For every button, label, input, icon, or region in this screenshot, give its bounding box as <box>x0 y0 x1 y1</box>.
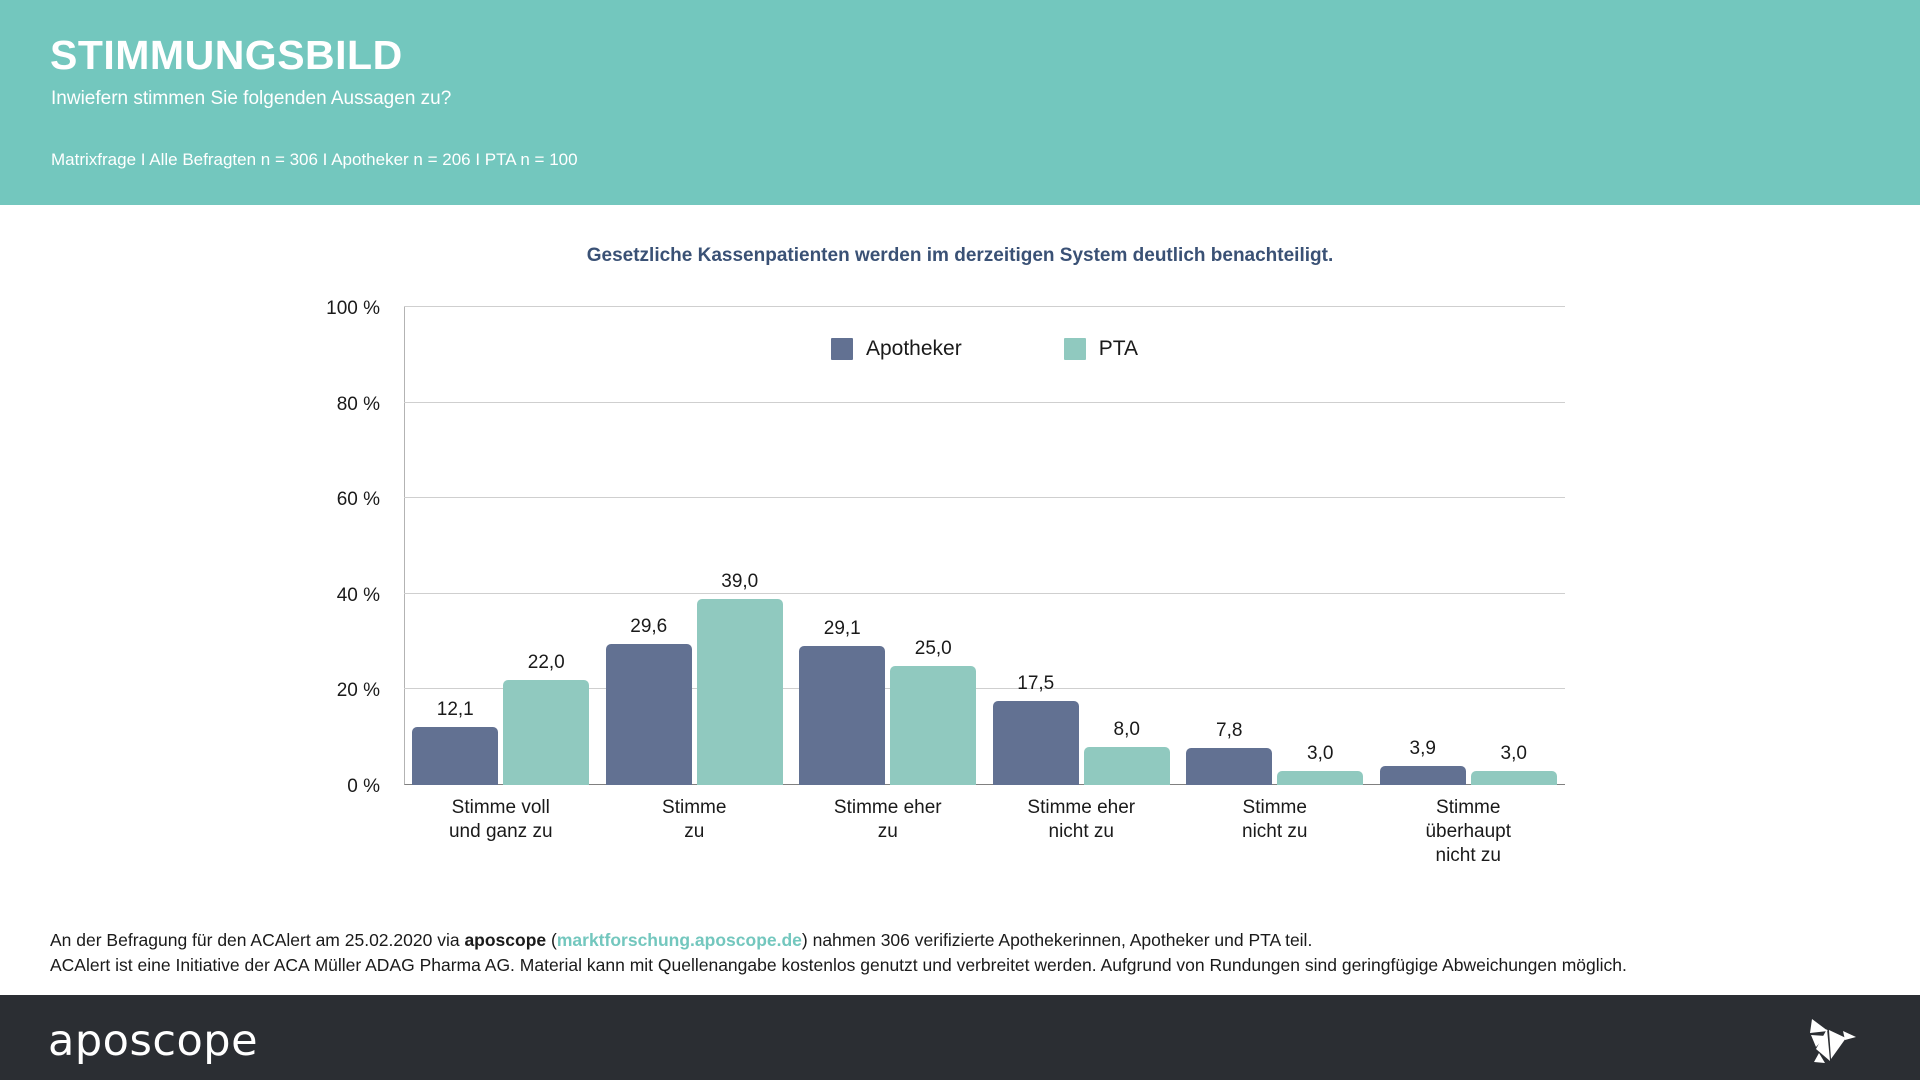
slide-root: STIMMUNGSBILD Inwiefern stimmen Sie folg… <box>0 0 1920 1080</box>
bar-pta[interactable] <box>503 680 589 785</box>
x-axis-category-label: Stimme eher zu <box>791 796 985 867</box>
origami-bird-icon <box>1798 1009 1860 1067</box>
bar-apotheker[interactable] <box>1186 748 1272 785</box>
bar-value-label: 12,1 <box>412 699 498 721</box>
bar-group: 7,83,0 <box>1178 307 1372 785</box>
footnote: An der Befragung für den ACAlert am 25.0… <box>50 928 1850 979</box>
x-axis-categories: Stimme voll und ganz zuStimme zuStimme e… <box>404 796 1565 867</box>
footnote-line-2: ACAlert ist eine Initiative der ACA Müll… <box>50 953 1850 978</box>
bar-slot: 17,5 <box>993 307 1079 785</box>
footnote-link[interactable]: marktforschung.aposcope.de <box>557 930 802 950</box>
page-title: STIMMUNGSBILD <box>50 35 403 76</box>
x-axis-category-label: Stimme eher nicht zu <box>985 796 1179 867</box>
bar-slot: 29,6 <box>606 307 692 785</box>
bar-apotheker[interactable] <box>1380 766 1466 785</box>
bar-value-label: 7,8 <box>1186 720 1272 742</box>
bar-pta[interactable] <box>890 666 976 786</box>
chart-title: Gesetzliche Kassenpatienten werden im de… <box>0 245 1920 267</box>
x-axis-category-label: Stimme nicht zu <box>1178 796 1372 867</box>
bar-group: 29,639,0 <box>598 307 792 785</box>
bar-apotheker[interactable] <box>799 646 885 785</box>
brand-wordmark: aposcope <box>48 1016 258 1066</box>
footnote-line-1: An der Befragung für den ACAlert am 25.0… <box>50 928 1850 953</box>
bar-value-label: 8,0 <box>1084 719 1170 741</box>
bar-value-label: 25,0 <box>890 638 976 660</box>
footnote-text-b: ( <box>546 930 557 950</box>
y-tick-label: 80 % <box>337 394 380 416</box>
bar-slot: 22,0 <box>503 307 589 785</box>
bar-group: 12,122,0 <box>404 307 598 785</box>
bar-value-label: 3,9 <box>1380 738 1466 760</box>
bar-value-label: 39,0 <box>697 571 783 593</box>
bar-pta[interactable] <box>1471 771 1557 785</box>
y-tick-label: 20 % <box>337 680 380 702</box>
bar-value-label: 29,1 <box>799 618 885 640</box>
bar-slot: 7,8 <box>1186 307 1272 785</box>
bar-pta[interactable] <box>697 599 783 785</box>
footnote-brand: aposcope <box>464 930 546 950</box>
bar-slot: 3,0 <box>1471 307 1557 785</box>
footer-bar: aposcope <box>0 995 1920 1080</box>
footnote-text-a: An der Befragung für den ACAlert am 25.0… <box>50 930 464 950</box>
x-axis-category-label: Stimme überhaupt nicht zu <box>1372 796 1566 867</box>
y-tick-label: 100 % <box>326 298 380 320</box>
bar-apotheker[interactable] <box>606 644 692 785</box>
bar-group: 17,58,0 <box>985 307 1179 785</box>
bar-pta[interactable] <box>1277 771 1363 785</box>
bar-slot: 29,1 <box>799 307 885 785</box>
bar-slot: 12,1 <box>412 307 498 785</box>
bar-group: 29,125,0 <box>791 307 985 785</box>
bar-apotheker[interactable] <box>993 701 1079 785</box>
bar-value-label: 22,0 <box>503 652 589 674</box>
bar-slot: 3,0 <box>1277 307 1363 785</box>
bar-value-label: 29,6 <box>606 616 692 638</box>
bar-value-label: 3,0 <box>1277 743 1363 765</box>
bar-pta[interactable] <box>1084 747 1170 785</box>
footnote-text-c: ) nahmen 306 verifizierte Apothekerinnen… <box>802 930 1312 950</box>
bar-group: 3,93,0 <box>1372 307 1566 785</box>
y-tick-label: 40 % <box>337 585 380 607</box>
chart-plot: 0 %20 %40 %60 %80 %100 % Apotheker PTA 1… <box>404 307 1565 785</box>
bar-groups: 12,122,029,639,029,125,017,58,07,83,03,9… <box>404 307 1565 785</box>
bar-apotheker[interactable] <box>412 727 498 785</box>
page-subtitle: Inwiefern stimmen Sie folgenden Aussagen… <box>51 88 451 110</box>
bar-value-label: 3,0 <box>1471 743 1557 765</box>
y-tick-label: 0 % <box>347 776 380 798</box>
header-band: STIMMUNGSBILD Inwiefern stimmen Sie folg… <box>0 0 1920 205</box>
bar-value-label: 17,5 <box>993 673 1079 695</box>
y-tick-label: 60 % <box>337 489 380 511</box>
bar-slot: 25,0 <box>890 307 976 785</box>
x-axis-category-label: Stimme zu <box>598 796 792 867</box>
bar-slot: 39,0 <box>697 307 783 785</box>
bar-slot: 8,0 <box>1084 307 1170 785</box>
bar-slot: 3,9 <box>1380 307 1466 785</box>
x-axis-category-label: Stimme voll und ganz zu <box>404 796 598 867</box>
survey-meta: Matrixfrage I Alle Befragten n = 306 I A… <box>51 150 578 170</box>
